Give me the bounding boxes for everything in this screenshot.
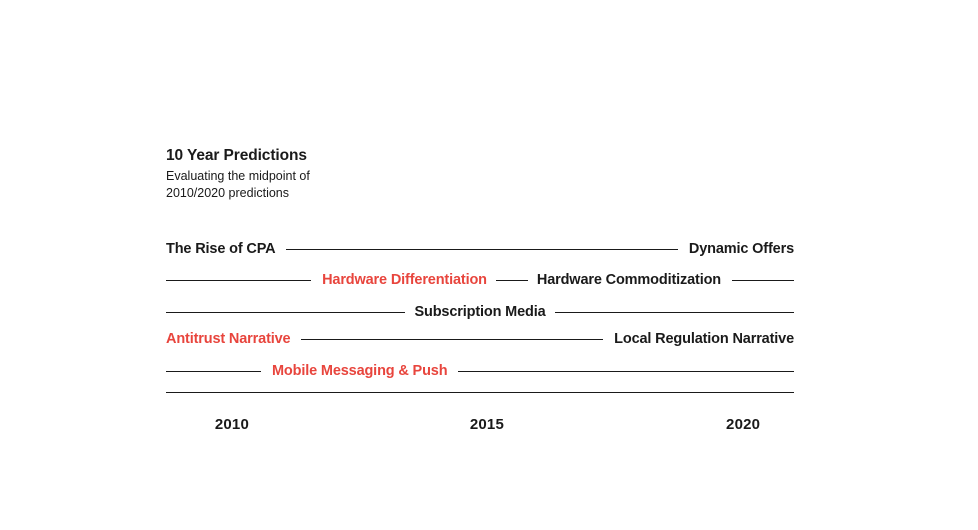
timeline-rule (166, 371, 261, 372)
timeline-row-4: Antitrust Narrative Local Regulation Nar… (166, 328, 794, 350)
timeline-label-hardware-differentiation: Hardware Differentiation (322, 273, 487, 288)
page-title: 10 Year Predictions (166, 146, 566, 165)
axis-tick-labels: 2010 2015 2020 (166, 416, 794, 440)
timeline-rule (732, 280, 794, 281)
timeline-rule-connector (496, 280, 528, 281)
axis-tick-2020: 2020 (726, 416, 760, 433)
timeline-rule (301, 339, 603, 340)
timeline-label-local-regulation-narrative: Local Regulation Narrative (614, 332, 794, 347)
timeline-row-1: The Rise of CPA Dynamic Offers (166, 238, 794, 260)
timeline-label-subscription-media: Subscription Media (414, 305, 545, 320)
timeline-row-2: Hardware Differentiation Hardware Commod… (166, 269, 794, 291)
timeline-label-mobile-messaging-push: Mobile Messaging & Push (272, 364, 447, 379)
timeline-rule (458, 371, 794, 372)
chart-subtitle-line-2: 2010/2020 predictions (166, 185, 341, 202)
axis-tick-2015: 2015 (470, 416, 504, 433)
timeline-rule (286, 249, 677, 250)
axis-tick-2010: 2010 (215, 416, 249, 433)
timeline-row-5: Mobile Messaging & Push (166, 360, 794, 382)
timeline-row-3: Subscription Media (166, 301, 794, 323)
timeline-rows: The Rise of CPA Dynamic Offers Hardware … (166, 238, 794, 388)
chart-subtitle-line-1: Evaluating the midpoint of (166, 168, 341, 185)
timeline-rule (166, 280, 311, 281)
axis-line (166, 392, 794, 393)
timeline-label-rise-of-cpa: The Rise of CPA (166, 242, 275, 257)
timeline-label-antitrust-narrative: Antitrust Narrative (166, 332, 290, 347)
timeline-label-hardware-commoditization: Hardware Commoditization (537, 273, 721, 288)
timeline-chart: 10 Year Predictions Evaluating the midpo… (0, 0, 978, 530)
chart-header: 10 Year Predictions Evaluating the midpo… (166, 146, 566, 201)
timeline-rule (166, 312, 405, 313)
timeline-rule (555, 312, 794, 313)
chart-subtitle: Evaluating the midpoint of 2010/2020 pre… (166, 168, 341, 201)
timeline-label-dynamic-offers: Dynamic Offers (689, 242, 794, 257)
